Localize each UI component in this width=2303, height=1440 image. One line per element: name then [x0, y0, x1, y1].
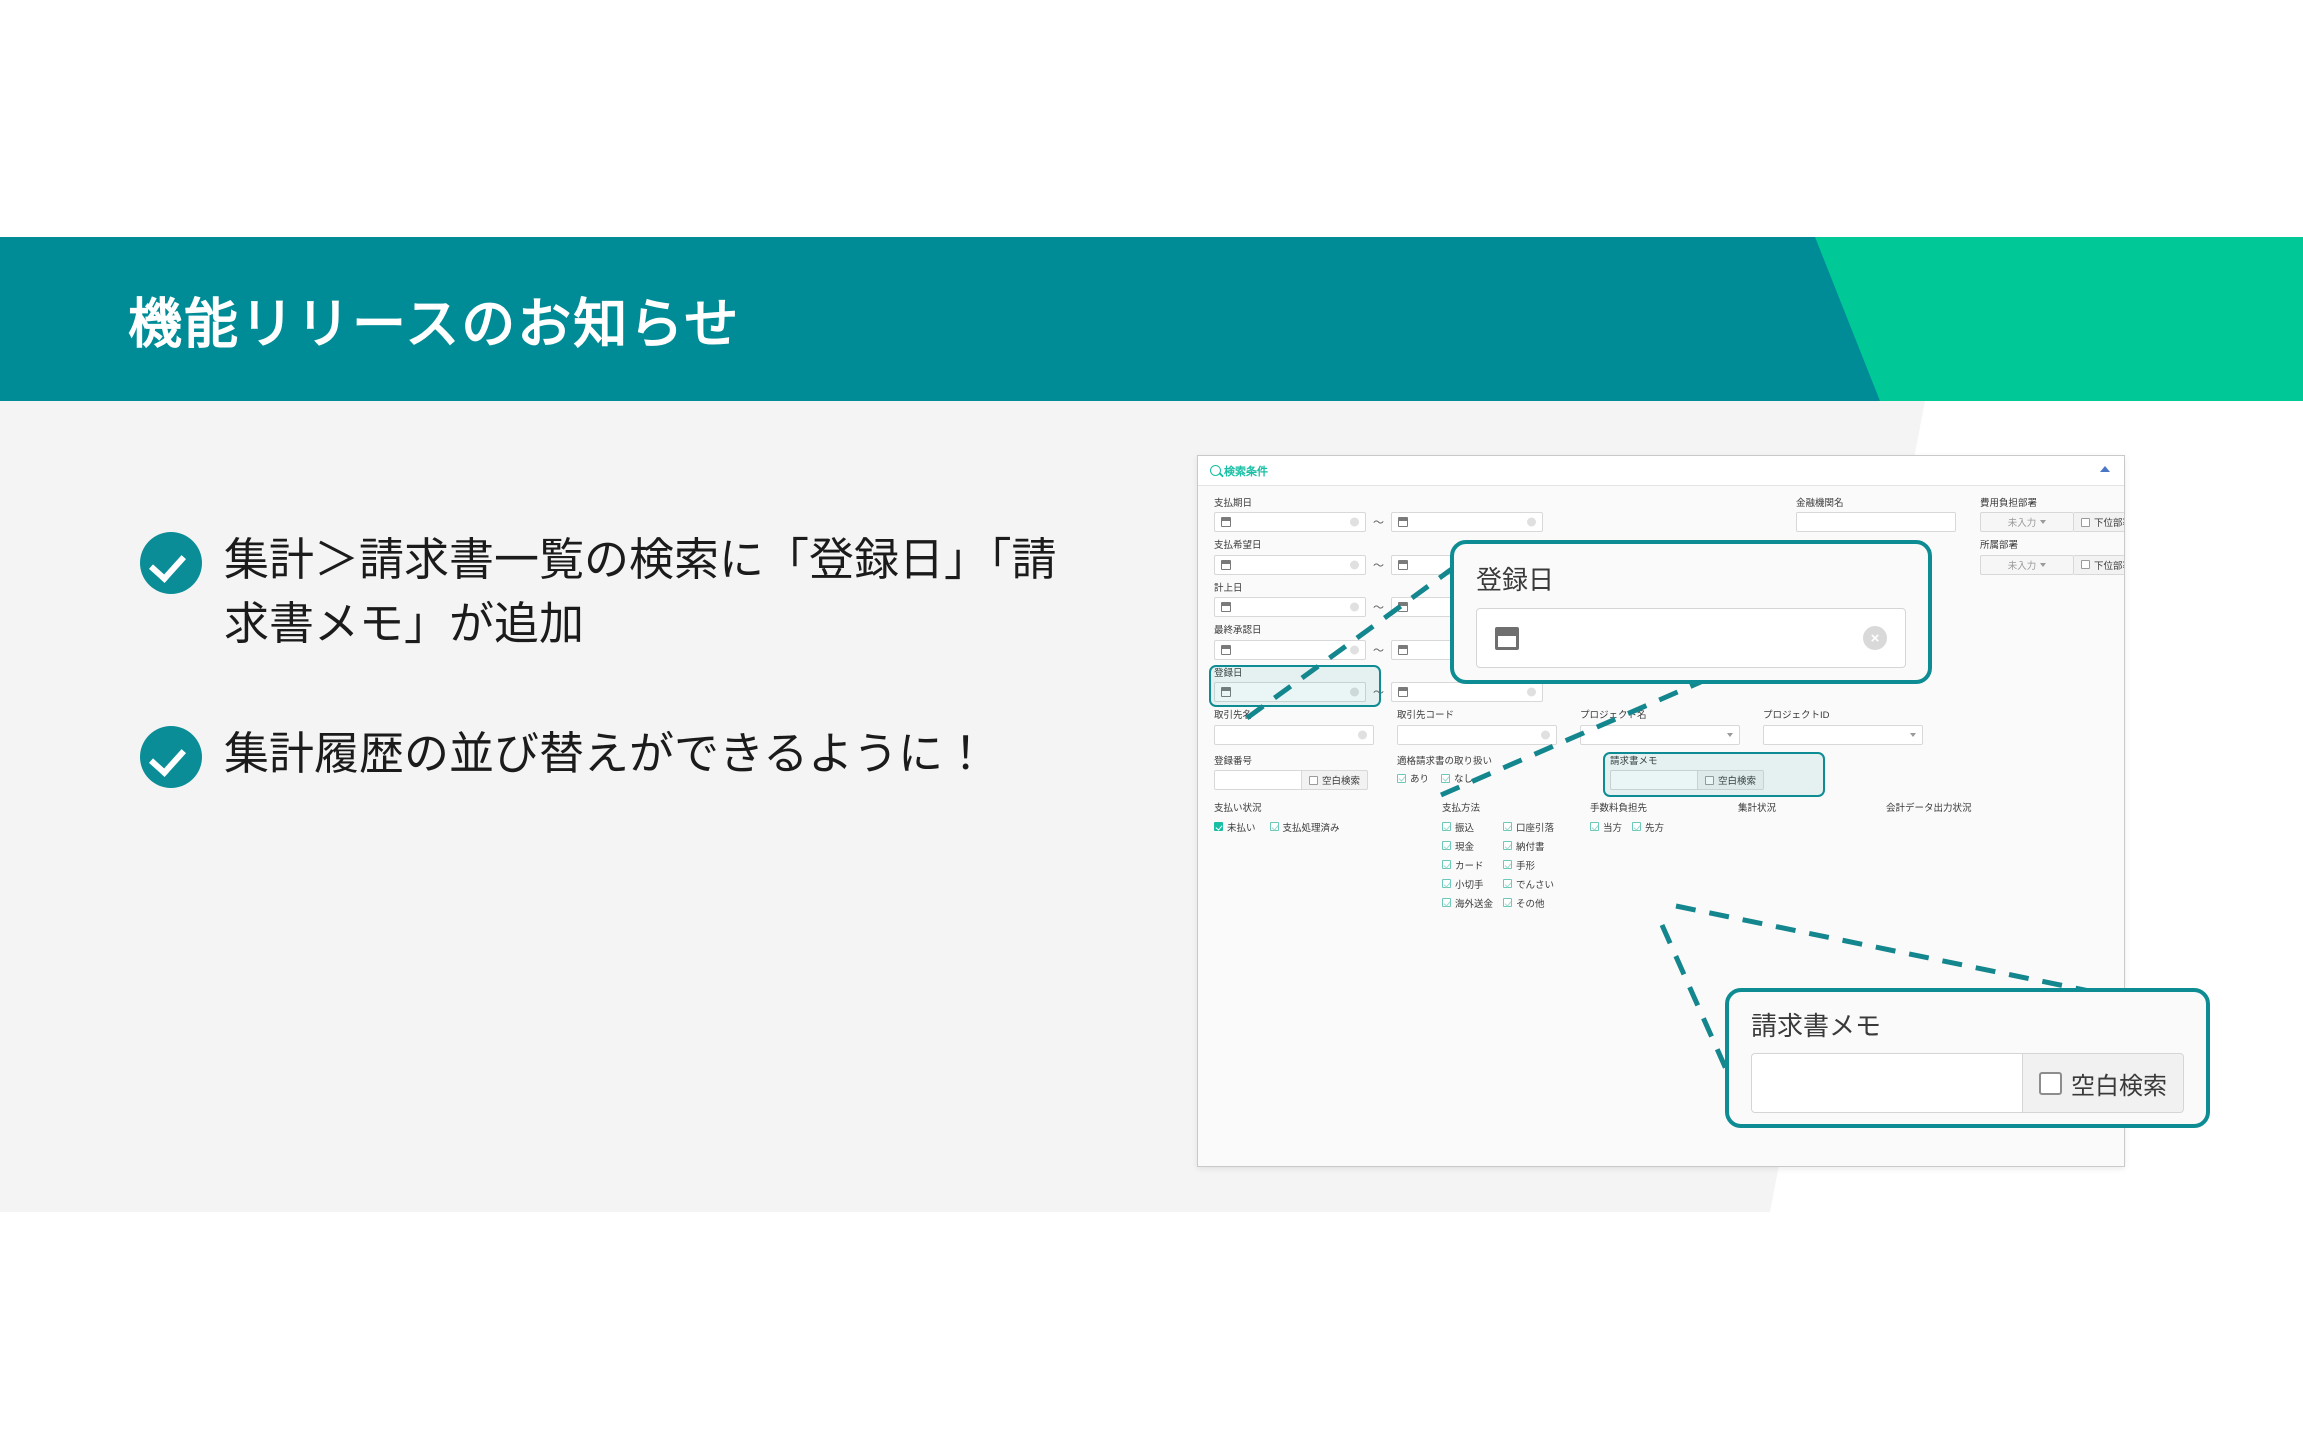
callout-invoice-memo-group: 空白検索: [1751, 1053, 2184, 1113]
calendar-icon: [1495, 627, 1519, 650]
group-aggregate-status: 集計状況: [1738, 804, 1886, 909]
partner-name-input[interactable]: [1214, 725, 1374, 745]
group-fee-bearer: 手数料負担先 当方 先方: [1590, 804, 1738, 909]
invoice-memo-group: 空白検索: [1610, 770, 1810, 790]
calendar-icon: [1398, 687, 1408, 697]
range-separator: ～: [1373, 642, 1384, 658]
checkbox-icon[interactable]: [1442, 841, 1451, 850]
blank-search-label: 空白検索: [1718, 773, 1756, 787]
clear-icon[interactable]: [1350, 560, 1359, 569]
calendar-icon: [1221, 645, 1231, 655]
payment-method-option[interactable]: 小切手: [1442, 877, 1493, 891]
select-value: 未入力: [2008, 515, 2037, 529]
option-label: 未払い: [1227, 820, 1256, 834]
blank-search-label: 空白検索: [1322, 773, 1360, 787]
clear-icon[interactable]: [1350, 688, 1359, 697]
checkbox-icon[interactable]: [1270, 822, 1279, 831]
checkbox-icon[interactable]: [1397, 774, 1406, 783]
callout-invoice-memo: 請求書メモ 空白検索: [1725, 988, 2210, 1128]
search-conditions-label: 検索条件: [1224, 463, 1268, 479]
checkbox-icon[interactable]: [2039, 1072, 2062, 1095]
field-label: 登録番号: [1214, 757, 1374, 767]
field-belonging-department: 所属部署 未入力 下位部署を含む: [1980, 541, 2125, 574]
clear-icon[interactable]: [1358, 730, 1367, 739]
field-label: 適格請求書の取り扱い: [1397, 757, 1587, 767]
checkbox-icon[interactable]: [1442, 860, 1451, 869]
group-payment-method: 支払方法 振込 現金 カード 小切手 海外送金 口座引落 納付書 手形: [1442, 804, 1590, 909]
field-payment-due-date: 支払期日 ～: [1214, 499, 1644, 532]
payment-method-col-right: 口座引落 納付書 手形 でんさい その他: [1503, 820, 1554, 910]
checkbox-icon[interactable]: [1705, 776, 1714, 785]
option-label: 納付書: [1516, 839, 1545, 853]
project-name-select[interactable]: [1580, 725, 1740, 745]
calendar-icon: [1398, 645, 1408, 655]
payment-method-option[interactable]: 現金: [1442, 839, 1493, 853]
payment-method-col-left: 振込 現金 カード 小切手 海外送金: [1442, 820, 1493, 910]
magnifier-icon: [1210, 465, 1221, 476]
checkbox-icon[interactable]: [1442, 822, 1451, 831]
checkbox-icon[interactable]: [1503, 860, 1512, 869]
partner-fields-row: 取引先名 取引先コード プロジェクト名 プロジェクトID: [1214, 711, 2108, 744]
option-label: 現金: [1455, 839, 1474, 853]
registration-number-group: 空白検索: [1214, 770, 1374, 790]
calendar-icon: [1221, 517, 1231, 527]
option-label: 手形: [1516, 858, 1535, 872]
calendar-icon: [1221, 560, 1231, 570]
checkbox-icon[interactable]: [1442, 879, 1451, 888]
bullet-list: 集計＞請求書一覧の検索に「登録日」「請求書メモ」が追加 集計履歴の並び替えができ…: [140, 528, 1080, 854]
department-fields: 費用負担部署 未入力 下位部署を含む: [1980, 499, 2125, 584]
qualified-invoice-option-no[interactable]: なし: [1441, 771, 1473, 785]
date-to-input[interactable]: [1391, 682, 1543, 702]
checkbox-icon[interactable]: [1309, 776, 1318, 785]
field-label: 取引先コード: [1397, 711, 1557, 721]
include-sub-departments-toggle[interactable]: 下位部署を含む: [2074, 512, 2125, 532]
group-label: 集計状況: [1738, 804, 1886, 814]
checkbox-icon[interactable]: [1503, 841, 1512, 850]
chevron-down-icon: [2040, 520, 2046, 524]
status-groups-row: 支払い状況 未払い 支払処理済み 支払方法: [1214, 804, 2108, 909]
group-label: 支払い状況: [1214, 804, 1442, 814]
clear-icon[interactable]: [1527, 688, 1536, 697]
page-title: 機能リリースのお知らせ: [128, 280, 740, 359]
range-separator: ～: [1373, 684, 1384, 700]
partner-code-input[interactable]: [1397, 725, 1557, 745]
department-row: 未入力 下位部署を含む: [1980, 555, 2125, 575]
payment-status-options: 未払い 支払処理済み: [1214, 820, 1442, 834]
chevron-down-icon: [1910, 733, 1916, 737]
callout-registration-date-input[interactable]: ×: [1476, 608, 1906, 668]
fee-bearer-options: 当方 先方: [1590, 820, 1738, 834]
caret-up-icon[interactable]: [2100, 466, 2110, 472]
checkbox-icon[interactable]: [1632, 822, 1641, 831]
field-label: 請求書メモ: [1610, 757, 1810, 767]
payment-method-options: 振込 現金 カード 小切手 海外送金 口座引落 納付書 手形 でんさい その他: [1442, 820, 1590, 910]
callout-invoice-memo-input[interactable]: [1751, 1053, 2023, 1113]
field-partner-name: 取引先名: [1214, 711, 1374, 744]
project-id-select[interactable]: [1763, 725, 1923, 745]
search-panel-header: 検索条件: [1198, 456, 2124, 486]
fee-bearer-option-self[interactable]: 当方: [1590, 820, 1622, 834]
field-label: プロジェクト名: [1580, 711, 1740, 721]
calendar-icon: [1398, 517, 1408, 527]
chevron-down-icon: [2040, 563, 2046, 567]
department-row: 未入力 下位部署を含む: [1980, 512, 2125, 532]
cost-department-select[interactable]: 未入力: [1980, 512, 2074, 532]
clear-icon[interactable]: [1541, 730, 1550, 739]
option-label: 先方: [1645, 820, 1664, 834]
payment-status-option-unpaid[interactable]: 未払い: [1214, 820, 1256, 834]
blank-search-toggle[interactable]: 空白検索: [1302, 770, 1368, 790]
group-label: 会計データ出力状況: [1886, 804, 2046, 814]
field-label: 費用負担部署: [1980, 499, 2125, 509]
group-accounting-output-status: 会計データ出力状況: [1886, 804, 2046, 909]
field-label: 取引先名: [1214, 711, 1374, 721]
bottom-white-area: [0, 1212, 2303, 1440]
payment-status-option-processed[interactable]: 支払処理済み: [1270, 820, 1340, 834]
checkbox-icon[interactable]: [1590, 822, 1599, 831]
checkbox-icon[interactable]: [1214, 822, 1223, 831]
chevron-down-icon: [1727, 733, 1733, 737]
include-sub-departments-toggle[interactable]: 下位部署を含む: [2074, 555, 2125, 575]
option-label: なし: [1454, 771, 1473, 785]
group-payment-status: 支払い状況 未払い 支払処理済み: [1214, 804, 1442, 909]
payment-method-option[interactable]: でんさい: [1503, 877, 1554, 891]
clear-circle-icon[interactable]: ×: [1863, 626, 1887, 650]
qualified-invoice-options: あり なし: [1397, 771, 1587, 785]
field-label: 所属部署: [1980, 541, 2125, 551]
clear-icon[interactable]: [1350, 645, 1359, 654]
checkbox-icon[interactable]: [2081, 518, 2090, 527]
date-to-input[interactable]: [1391, 512, 1543, 532]
memo-row: 登録番号 空白検索 適格請求書の取り扱い あり: [1214, 757, 2108, 790]
header-banner: 機能リリースのお知らせ: [0, 237, 2303, 401]
check-circle-icon: [140, 532, 202, 594]
range-separator: ～: [1373, 557, 1384, 573]
registration-number-input[interactable]: [1214, 770, 1302, 790]
field-project-id: プロジェクトID: [1763, 711, 1923, 744]
list-item: 集計履歴の並び替えができるように！: [140, 722, 1080, 788]
select-value: 未入力: [2008, 558, 2037, 572]
range-separator: ～: [1373, 514, 1384, 530]
checkbox-icon[interactable]: [1503, 879, 1512, 888]
date-range-row: ～: [1214, 512, 1644, 532]
check-circle-icon: [140, 726, 202, 788]
callout-title: 登録日: [1476, 560, 1906, 597]
clear-icon[interactable]: [1527, 518, 1536, 527]
list-item: 集計＞請求書一覧の検索に「登録日」「請求書メモ」が追加: [140, 528, 1080, 656]
option-label: カード: [1455, 858, 1484, 872]
option-label: 支払処理済み: [1283, 820, 1340, 834]
fee-bearer-option-other[interactable]: 先方: [1632, 820, 1664, 834]
field-partner-code: 取引先コード: [1397, 711, 1557, 744]
option-label: 小切手: [1455, 877, 1484, 891]
payment-method-option[interactable]: 手形: [1503, 858, 1554, 872]
callout-title: 請求書メモ: [1751, 1006, 2184, 1043]
invoice-memo-input[interactable]: [1610, 770, 1698, 790]
range-separator: ～: [1373, 599, 1384, 615]
callout-blank-search-toggle[interactable]: 空白検索: [2023, 1053, 2184, 1113]
field-label: プロジェクトID: [1763, 711, 1923, 721]
field-label: 支払期日: [1214, 499, 1644, 509]
field-invoice-memo: 請求書メモ 空白検索: [1610, 757, 1810, 790]
group-label: 手数料負担先: [1590, 804, 1738, 814]
date-from-input[interactable]: [1214, 640, 1366, 660]
field-label: 金融機関名: [1796, 499, 1956, 509]
option-label: 口座引落: [1516, 820, 1554, 834]
checkbox-icon[interactable]: [1442, 898, 1451, 907]
calendar-icon: [1398, 602, 1408, 612]
checkbox-icon[interactable]: [1503, 898, 1512, 907]
clear-icon[interactable]: [1350, 603, 1359, 612]
payment-method-option[interactable]: 振込: [1442, 820, 1493, 834]
date-from-input[interactable]: [1214, 682, 1366, 702]
checkbox-icon[interactable]: [1503, 822, 1512, 831]
checkbox-label: 下位部署を含む: [2094, 515, 2125, 529]
option-label: 当方: [1603, 820, 1622, 834]
bullet-text: 集計＞請求書一覧の検索に「登録日」「請求書メモ」が追加: [224, 528, 1080, 656]
slide: 機能リリースのお知らせ 集計＞請求書一覧の検索に「登録日」「請求書メモ」が追加 …: [0, 0, 2303, 1440]
qualified-invoice-option-yes[interactable]: あり: [1397, 771, 1429, 785]
payment-method-option[interactable]: 納付書: [1503, 839, 1554, 853]
field-qualified-invoice: 適格請求書の取り扱い あり なし: [1397, 757, 1587, 790]
option-label: 海外送金: [1455, 896, 1493, 910]
option-label: あり: [1410, 771, 1429, 785]
payment-method-option[interactable]: 口座引落: [1503, 820, 1554, 834]
field-cost-department: 費用負担部署 未入力 下位部署を含む: [1980, 499, 2125, 532]
callout-registration-date: 登録日 ×: [1450, 540, 1932, 684]
payment-method-option[interactable]: カード: [1442, 858, 1493, 872]
checkbox-label: 下位部署を含む: [2094, 558, 2125, 572]
calendar-icon: [1221, 602, 1231, 612]
calendar-icon: [1398, 560, 1408, 570]
payment-method-option[interactable]: 海外送金: [1442, 896, 1493, 910]
bullet-text: 集計履歴の並び替えができるように！: [224, 722, 988, 786]
checkbox-icon[interactable]: [1441, 774, 1450, 783]
blank-search-label: 空白検索: [2071, 1066, 2167, 1101]
date-from-input[interactable]: [1214, 555, 1366, 575]
field-registration-number: 登録番号 空白検索: [1214, 757, 1374, 790]
option-label: 振込: [1455, 820, 1474, 834]
belonging-department-select[interactable]: 未入力: [1980, 555, 2074, 575]
search-conditions-title: 検索条件: [1210, 463, 1268, 479]
option-label: その他: [1516, 896, 1545, 910]
bank-name-input[interactable]: [1796, 512, 1956, 532]
option-label: でんさい: [1516, 877, 1554, 891]
calendar-icon: [1221, 687, 1231, 697]
field-project-name: プロジェクト名: [1580, 711, 1740, 744]
blank-search-toggle[interactable]: 空白検索: [1698, 770, 1764, 790]
date-from-input[interactable]: [1214, 597, 1366, 617]
clear-icon[interactable]: [1350, 518, 1359, 527]
date-from-input[interactable]: [1214, 512, 1366, 532]
group-label: 支払方法: [1442, 804, 1590, 814]
date-range-row: ～: [1214, 682, 1644, 702]
checkbox-icon[interactable]: [2081, 560, 2090, 569]
payment-method-option[interactable]: その他: [1503, 896, 1554, 910]
